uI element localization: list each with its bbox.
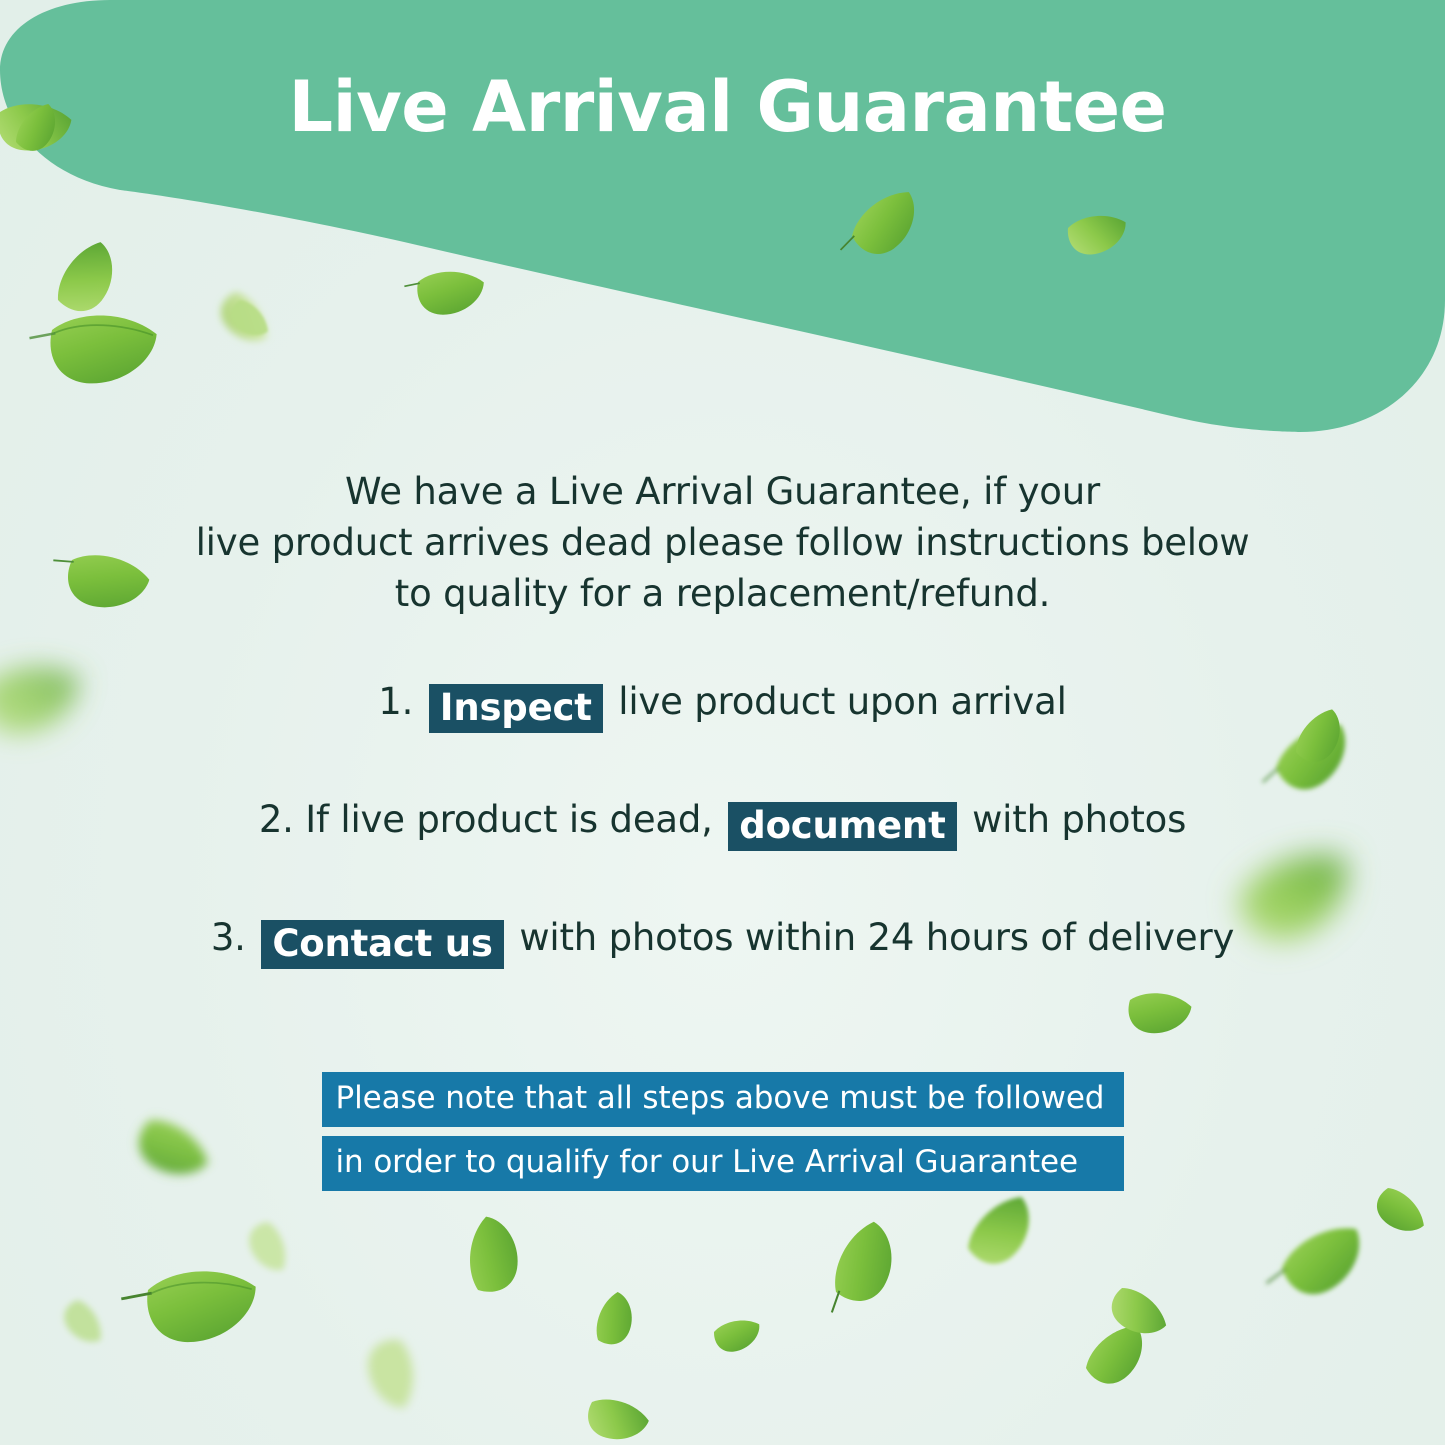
step-2-highlight: document: [728, 802, 956, 851]
step-1-after: live product upon arrival: [618, 680, 1066, 723]
leaf-icon: [712, 1317, 760, 1354]
leaf-icon: [585, 1290, 645, 1352]
leaf-icon: [1121, 982, 1193, 1045]
step-2-number: 2.: [259, 798, 294, 841]
leaf-icon: [1258, 1225, 1368, 1304]
step-3-after: with photos within 24 hours of delivery: [519, 916, 1234, 959]
leaf-icon: [61, 1296, 103, 1347]
note-line-1: Please note that all steps above must be…: [322, 1072, 1124, 1127]
step-3-highlight: Contact us: [261, 920, 503, 969]
step-1: 1. Inspect live product upon arrival: [0, 678, 1445, 727]
steps-list: 1. Inspect live product upon arrival 2. …: [0, 678, 1445, 963]
step-3: 3. Contact us with photos within 24 hour…: [0, 914, 1445, 963]
intro-paragraph: We have a Live Arrival Guarantee, if you…: [0, 466, 1445, 619]
leaf-icon: [805, 1218, 912, 1326]
notes-block: Please note that all steps above must be…: [0, 1072, 1445, 1191]
live-arrival-guarantee-poster: Live Arrival Guarantee We have a Live Ar…: [0, 0, 1445, 1445]
intro-line-2: live product arrives dead please follow …: [0, 517, 1445, 568]
leaf-icon: [579, 1386, 651, 1445]
step-2-before: If live product is dead,: [305, 798, 712, 841]
note-line-2: in order to qualify for our Live Arrival…: [322, 1136, 1124, 1191]
step-3-number: 3.: [211, 916, 246, 959]
leaf-icon: [1077, 1323, 1155, 1392]
step-2: 2. If live product is dead, document wit…: [0, 796, 1445, 845]
step-2-after: with photos: [972, 798, 1186, 841]
page-title: Live Arrival Guarantee: [0, 72, 1445, 142]
leaf-icon: [1103, 1278, 1169, 1348]
leaf-icon: [360, 1334, 421, 1409]
intro-line-3: to quality for a replacement/refund.: [0, 568, 1445, 619]
step-1-number: 1.: [378, 680, 413, 723]
leaf-icon: [115, 1251, 258, 1356]
leaf-icon: [456, 1215, 532, 1301]
intro-line-1: We have a Live Arrival Guarantee, if you…: [0, 466, 1445, 517]
leaf-icon: [957, 1193, 1045, 1273]
step-1-highlight: Inspect: [429, 684, 603, 733]
leaf-icon: [248, 1221, 285, 1271]
